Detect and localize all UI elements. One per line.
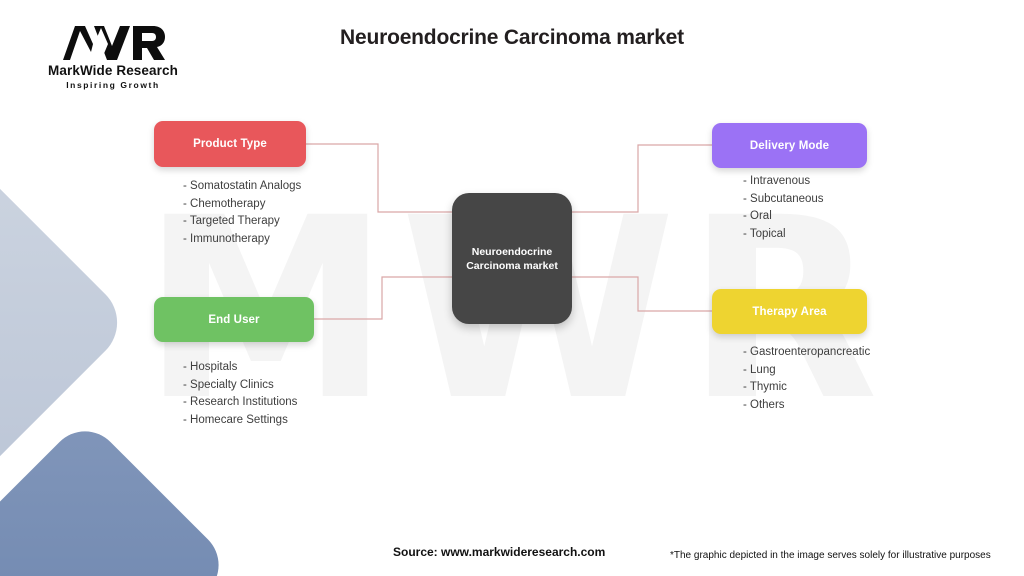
list-item: - Gastroenteropancreatic — [743, 344, 870, 362]
connector-therapy-area — [572, 277, 712, 311]
list-item: - Targeted Therapy — [183, 213, 301, 231]
list-item: - Research Institutions — [183, 394, 297, 412]
disclaimer-text: *The graphic depicted in the image serve… — [670, 550, 991, 561]
node-therapy-area[interactable]: Therapy Area — [712, 289, 867, 334]
node-end-user-label: End User — [208, 314, 259, 326]
list-item: - Immunotherapy — [183, 231, 301, 249]
list-item: - Hospitals — [183, 359, 297, 377]
list-item: - Subcutaneous — [743, 191, 824, 209]
node-central-hub-label: Neuroendocrine Carcinoma market — [466, 245, 558, 273]
list-product-type: - Somatostatin Analogs - Chemotherapy - … — [183, 178, 301, 248]
list-item: - Chemotherapy — [183, 196, 301, 214]
list-item: - Others — [743, 397, 870, 415]
source-text: Source: www.markwideresearch.com — [393, 545, 605, 559]
node-product-type-label: Product Type — [193, 138, 267, 150]
list-item: - Topical — [743, 226, 824, 244]
infographic-canvas: MWR MarkWide Research Inspiring Growth N… — [0, 0, 1024, 576]
list-end-user: - Hospitals - Specialty Clinics - Resear… — [183, 359, 297, 429]
list-item: - Intravenous — [743, 173, 824, 191]
connector-delivery-mode — [572, 145, 712, 212]
list-therapy-area: - Gastroenteropancreatic - Lung - Thymic… — [743, 344, 870, 414]
list-item: - Lung — [743, 362, 870, 380]
hub-line-2: Carcinoma market — [466, 260, 558, 272]
node-product-type[interactable]: Product Type — [154, 121, 306, 167]
list-item: - Homecare Settings — [183, 412, 297, 430]
node-delivery-mode[interactable]: Delivery Mode — [712, 123, 867, 168]
list-item: - Oral — [743, 208, 824, 226]
node-therapy-area-label: Therapy Area — [752, 306, 826, 318]
node-end-user[interactable]: End User — [154, 297, 314, 342]
list-delivery-mode: - Intravenous - Subcutaneous - Oral - To… — [743, 173, 824, 243]
connector-product-type — [306, 144, 452, 212]
list-item: - Specialty Clinics — [183, 377, 297, 395]
node-delivery-mode-label: Delivery Mode — [750, 140, 829, 152]
list-item: - Somatostatin Analogs — [183, 178, 301, 196]
node-central-hub[interactable]: Neuroendocrine Carcinoma market — [452, 193, 572, 324]
connector-end-user — [314, 277, 452, 319]
list-item: - Thymic — [743, 379, 870, 397]
hub-line-1: Neuroendocrine — [472, 246, 553, 258]
